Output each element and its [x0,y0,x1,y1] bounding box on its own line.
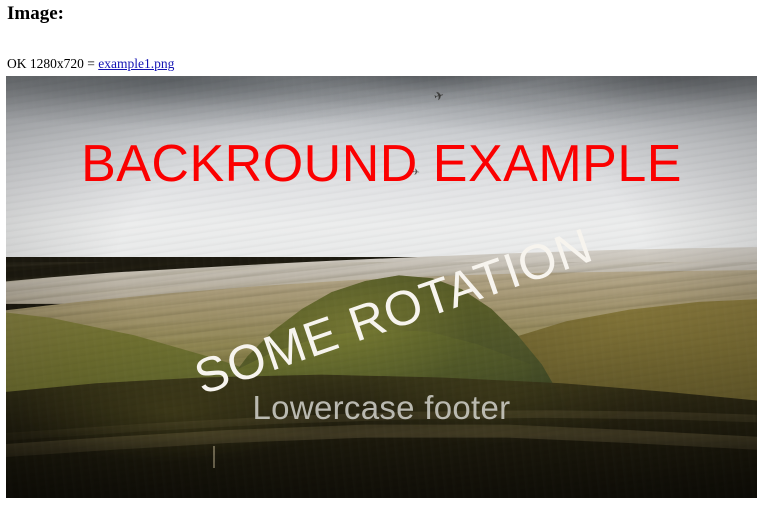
page-title: Image: [7,0,64,28]
status-line: OK 1280x720 = example1.png [7,56,174,72]
roadside-post [213,446,215,468]
status-prefix: OK 1280x720 = [7,56,98,71]
page-root: Image: OK 1280x720 = example1.png ✈ ✈ BA… [0,0,766,513]
example-image-link[interactable]: example1.png [98,56,174,71]
overlay-footer-text: Lowercase footer [6,391,757,424]
example-image[interactable]: ✈ ✈ BACKROUND EXAMPLE SOME ROTATION Lowe… [6,76,757,498]
overlay-heading-text: BACKROUND EXAMPLE [6,138,757,190]
